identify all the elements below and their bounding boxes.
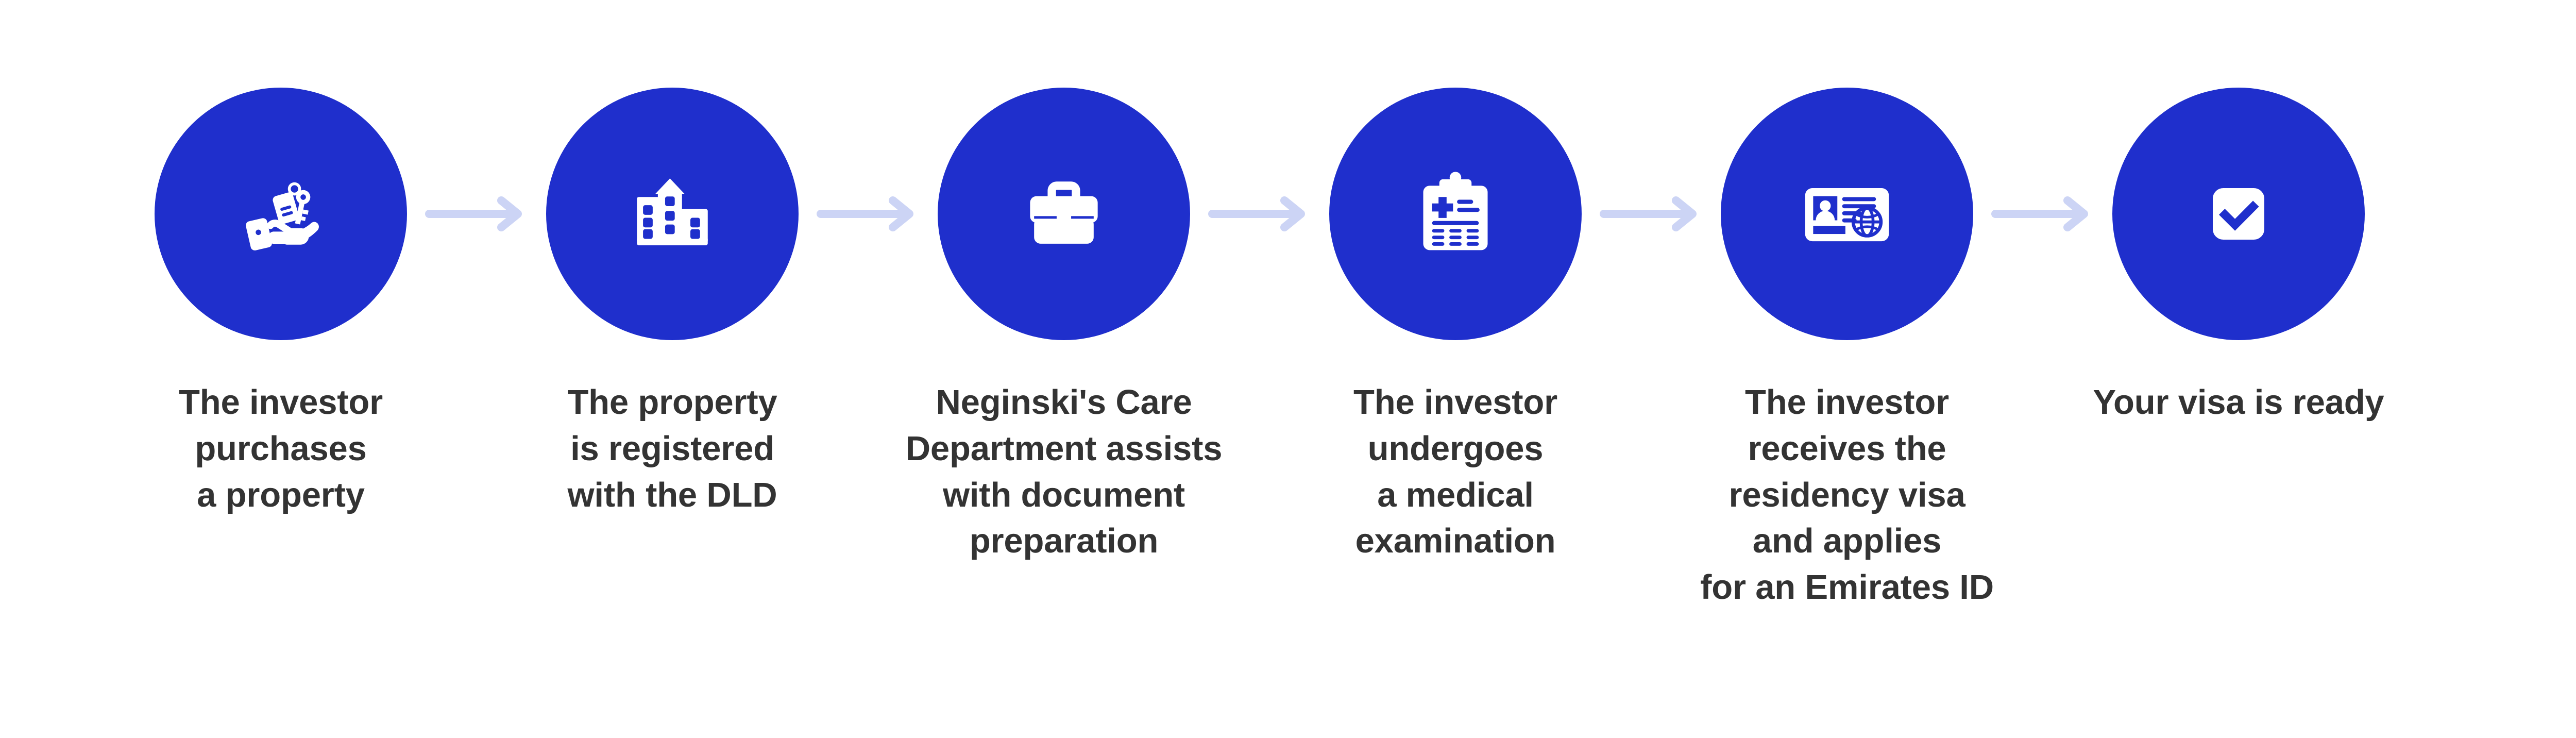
step-1-caption-line-1: The investor [179,379,383,426]
step-2-caption-line-1: The property [567,379,777,426]
arrow-right-icon [1991,196,2094,232]
step-5-caption: The investor receives the residency visa… [1700,379,1994,611]
connector-arrow-5 [1973,88,2112,340]
step-2-caption-line-2: is registered [567,426,777,472]
step-1-icon-circle [155,88,407,340]
step-4-caption-line-3: a medical [1353,472,1557,518]
connector-arrow-1 [407,88,546,340]
step-3-caption-line-2: Department assists [906,426,1223,472]
process-step-6: Your visa is ready [2112,88,2365,426]
connector-arrow-3 [1190,88,1329,340]
step-5-caption-line-1: The investor [1700,379,1994,426]
step-1-caption-line-2: purchases [179,426,383,472]
step-3-caption-line-4: preparation [906,518,1223,564]
process-step-2: The property is registered with the DLD [546,88,799,518]
process-step-4: The investor undergoes a medical examina… [1329,88,1582,564]
arrow-right-icon [1600,196,1703,232]
step-5-caption-line-2: receives the [1700,426,1994,472]
step-5-icon-circle [1721,88,1973,340]
step-1-caption-line-3: a property [179,472,383,518]
arrow-right-icon [817,196,920,232]
process-step-3: Neginski's Care Department assists with … [938,88,1190,564]
step-3-caption-line-1: Neginski's Care [906,379,1223,426]
step-3-caption-line-3: with document [906,472,1223,518]
checkbox-check-icon [2187,162,2290,265]
arrow-right-icon [1208,196,1311,232]
connector-arrow-2 [799,88,938,340]
step-4-caption-line-4: examination [1353,518,1557,564]
step-4-icon-circle [1329,88,1582,340]
step-2-icon-circle [546,88,799,340]
step-4-caption-line-1: The investor [1353,379,1557,426]
step-3-caption: Neginski's Care Department assists with … [906,379,1223,564]
step-6-icon-circle [2112,88,2365,340]
step-4-caption: The investor undergoes a medical examina… [1353,379,1557,564]
step-6-caption-line-1: Your visa is ready [2093,379,2384,426]
step-6-caption: Your visa is ready [2093,379,2384,426]
step-5-caption-line-5: for an Emirates ID [1700,564,1994,611]
hand-holding-keys-icon [229,162,332,265]
step-1-caption: The investor purchases a property [179,379,383,518]
process-step-5: The investor receives the residency visa… [1721,88,1973,611]
briefcase-icon [1012,162,1115,265]
arrow-right-icon [425,196,528,232]
step-4-caption-line-2: undergoes [1353,426,1557,472]
step-5-caption-line-3: residency visa [1700,472,1994,518]
medical-clipboard-icon [1404,162,1507,265]
id-card-globe-icon [1795,162,1899,265]
process-flow-diagram: The investor purchases a property [0,0,2576,738]
building-icon [621,162,724,265]
step-2-caption: The property is registered with the DLD [567,379,777,518]
step-3-icon-circle [938,88,1190,340]
process-step-1: The investor purchases a property [155,88,407,518]
step-5-caption-line-4: and applies [1700,518,1994,564]
connector-arrow-4 [1582,88,1721,340]
step-2-caption-line-3: with the DLD [567,472,777,518]
